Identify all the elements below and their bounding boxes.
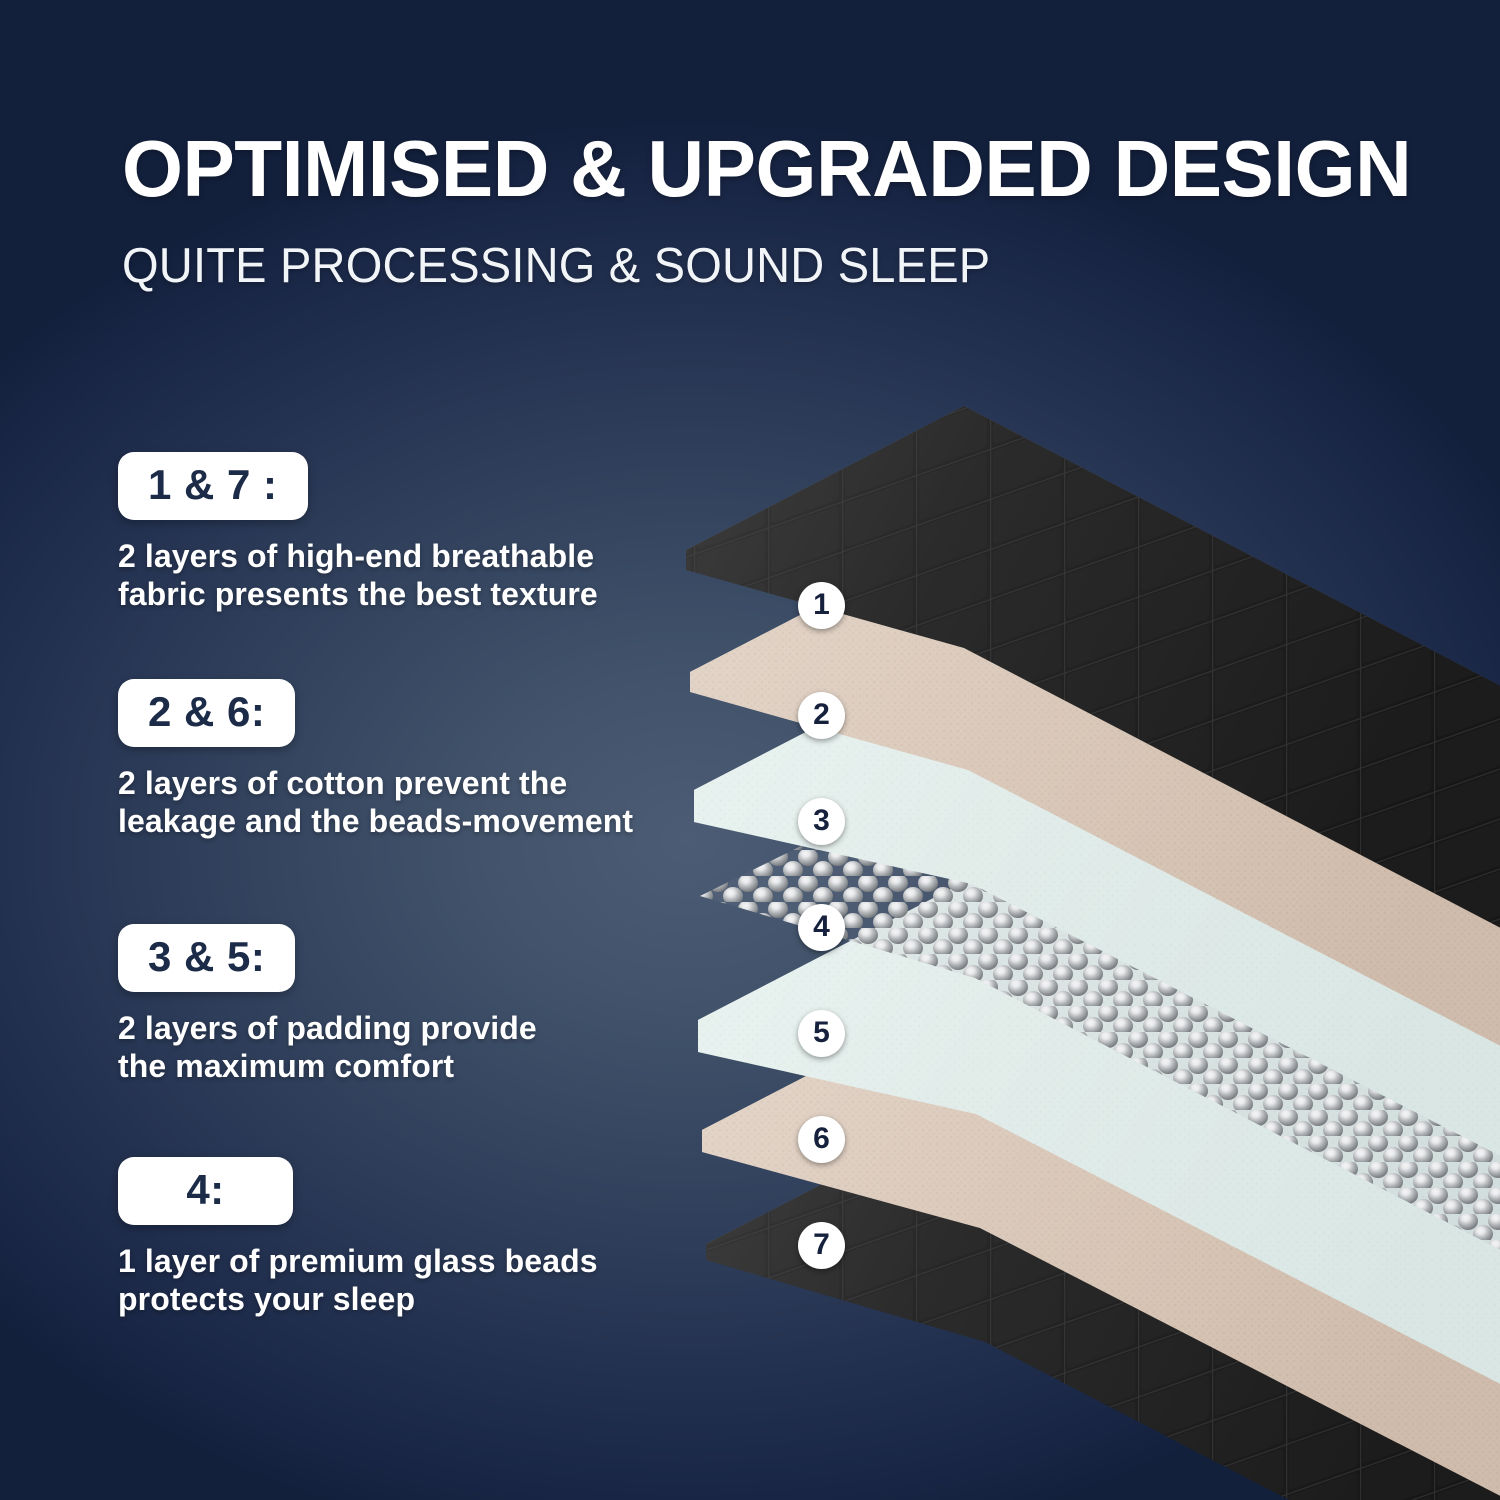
- feature-pill-label: 1 & 7 :: [148, 462, 278, 508]
- layer-stack-svg: [620, 330, 1500, 1500]
- feature-description-1-and-7: 2 layers of high-end breathable fabric p…: [118, 537, 678, 613]
- layer-number-label: 5: [813, 1018, 830, 1048]
- feature-description-line: protects your sleep: [118, 1280, 678, 1318]
- feature-description-line: 1 layer of premium glass beads: [118, 1242, 678, 1280]
- layer-number-badge-1: 1: [798, 582, 845, 629]
- feature-pill-3-and-5: 3 & 5:: [118, 924, 295, 992]
- feature-item-2-and-6: 2 & 6: 2 layers of cotton prevent the le…: [118, 679, 678, 840]
- feature-description-line: leakage and the beads-movement: [118, 802, 678, 840]
- layer-number-label: 7: [813, 1230, 830, 1260]
- layer-number-badge-4: 4: [798, 904, 845, 951]
- feature-item-3-and-5: 3 & 5: 2 layers of padding provide the m…: [118, 924, 678, 1085]
- layer-number-label: 3: [813, 806, 830, 836]
- layer-stack-diagram: 1 2 3 4 5 6 7: [620, 330, 1500, 1500]
- page-title: OPTIMISED & UPGRADED DESIGN: [122, 128, 1396, 210]
- feature-pill-label: 2 & 6:: [148, 689, 265, 735]
- layer-number-badge-5: 5: [798, 1010, 845, 1057]
- layer-number-label: 4: [813, 912, 830, 942]
- feature-description-line: 2 layers of high-end breathable: [118, 537, 678, 575]
- feature-description-3-and-5: 2 layers of padding provide the maximum …: [118, 1009, 678, 1085]
- layer-number-badge-7: 7: [798, 1222, 845, 1269]
- infographic-canvas: OPTIMISED & UPGRADED DESIGN QUITE PROCES…: [0, 0, 1500, 1500]
- feature-description-2-and-6: 2 layers of cotton prevent the leakage a…: [118, 764, 678, 840]
- page-subtitle: QUITE PROCESSING & SOUND SLEEP: [122, 240, 1370, 292]
- feature-description-line: 2 layers of cotton prevent the: [118, 764, 678, 802]
- layer-number-badge-3: 3: [798, 798, 845, 845]
- feature-item-1-and-7: 1 & 7 : 2 layers of high-end breathable …: [118, 452, 678, 613]
- layer-number-badge-2: 2: [798, 692, 845, 739]
- feature-pill-label: 4:: [148, 1167, 263, 1213]
- layer-number-label: 1: [813, 590, 830, 620]
- feature-pill-2-and-6: 2 & 6:: [118, 679, 295, 747]
- heading-block: OPTIMISED & UPGRADED DESIGN QUITE PROCES…: [122, 128, 1422, 292]
- feature-pill-label: 3 & 5:: [148, 934, 265, 980]
- feature-description-4: 1 layer of premium glass beads protects …: [118, 1242, 678, 1318]
- feature-description-line: the maximum comfort: [118, 1047, 678, 1085]
- feature-description-line: 2 layers of padding provide: [118, 1009, 678, 1047]
- feature-item-4: 4: 1 layer of premium glass beads protec…: [118, 1157, 678, 1318]
- feature-pill-1-and-7: 1 & 7 :: [118, 452, 308, 520]
- layer-number-label: 2: [813, 700, 830, 730]
- feature-description-line: fabric presents the best texture: [118, 575, 678, 613]
- layer-number-label: 6: [813, 1124, 830, 1154]
- feature-pill-4: 4:: [118, 1157, 293, 1225]
- layer-number-badge-6: 6: [798, 1116, 845, 1163]
